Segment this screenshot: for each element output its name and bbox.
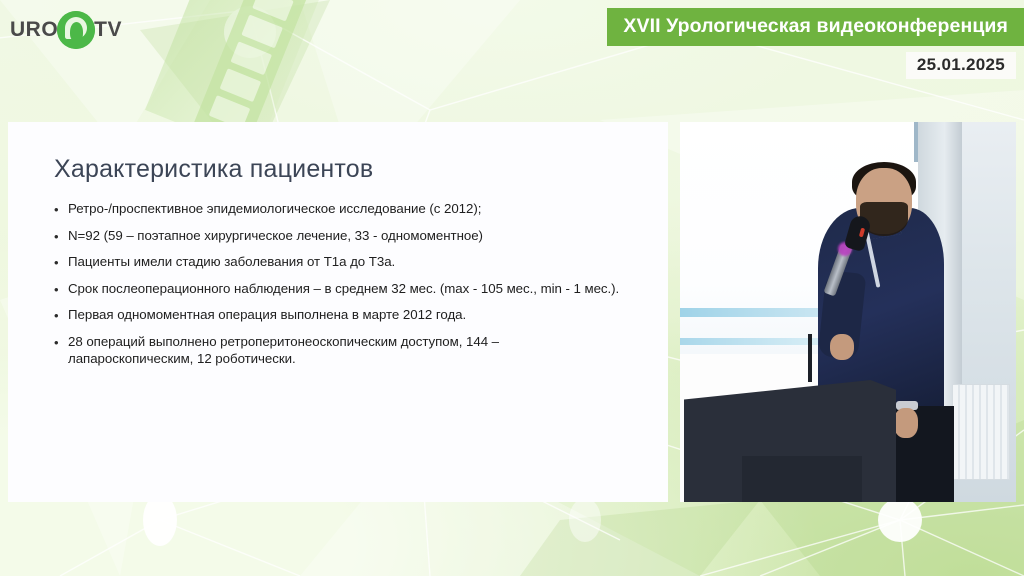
slide-title: Характеристика пациентов <box>54 155 373 184</box>
speaker-video-panel[interactable] <box>680 122 1016 502</box>
radiator <box>952 384 1010 480</box>
list-item: • 28 операций выполнено ретроперитонеоск… <box>54 333 624 367</box>
conference-title-banner: XVII Урологическая видеоконференция <box>607 8 1024 46</box>
bullet-text: Ретро-/проспективное эпидемиологическое … <box>68 200 481 217</box>
bullet-text: Пациенты имели стадию заболевания от T1a… <box>68 253 395 270</box>
bullet-marker-icon: • <box>54 306 68 324</box>
list-item: • N=92 (59 – поэтапное хирургическое леч… <box>54 227 624 245</box>
bullet-marker-icon: • <box>54 227 68 245</box>
speaker-hand-right <box>894 408 918 438</box>
bullet-text: Первая одномоментная операция выполнена … <box>68 306 466 323</box>
presentation-slide[interactable]: Характеристика пациентов • Ретро-/проспе… <box>8 122 668 502</box>
bullet-marker-icon: • <box>54 253 68 271</box>
uro-tv-emblem-icon <box>57 11 95 49</box>
logo-text-tv: TV <box>94 18 122 42</box>
video-scene <box>680 122 1016 502</box>
bullet-marker-icon: • <box>54 280 68 298</box>
list-item: • Первая одномоментная операция выполнен… <box>54 306 624 324</box>
podium-base <box>742 456 862 502</box>
logo-text-uro: URO <box>10 18 58 42</box>
uro-tv-logo[interactable]: URO TV <box>10 11 122 49</box>
bullet-text: Срок послеоперационного наблюдения – в с… <box>68 280 619 297</box>
bullet-text: 28 операций выполнено ретроперитонеоскоп… <box>68 333 624 367</box>
bullet-marker-icon: • <box>54 200 68 218</box>
speaker-hand-left <box>830 334 854 360</box>
slide-bullet-list: • Ретро-/проспективное эпидемиологическо… <box>54 200 624 375</box>
screen-rail-upper <box>680 308 840 317</box>
list-item: • Срок послеоперационного наблюдения – в… <box>54 280 624 298</box>
list-item: • Пациенты имели стадию заболевания от T… <box>54 253 624 271</box>
microphone-stand <box>808 334 812 382</box>
list-item: • Ретро-/проспективное эпидемиологическо… <box>54 200 624 218</box>
bullet-marker-icon: • <box>54 333 68 351</box>
bullet-text: N=92 (59 – поэтапное хирургическое лечен… <box>68 227 483 244</box>
conference-date-badge: 25.01.2025 <box>906 52 1016 79</box>
